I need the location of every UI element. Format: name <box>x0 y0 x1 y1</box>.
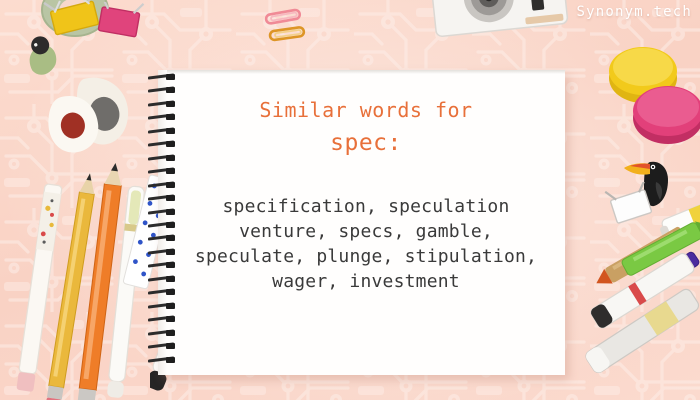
spiral-ring <box>146 276 180 283</box>
spiral-ring <box>146 195 180 202</box>
spiral-ring <box>146 343 180 350</box>
synonym-list: specification, speculation venture, spec… <box>167 194 565 294</box>
spiral-ring <box>146 155 180 162</box>
camera <box>428 0 574 50</box>
spiral-ring <box>146 87 180 94</box>
spiral-ring <box>146 209 180 216</box>
spiral-ring <box>146 289 180 296</box>
screenshot-canvas: Similar words for spec: specification, s… <box>0 0 700 400</box>
spiral-binding <box>146 72 182 374</box>
spiral-ring <box>146 330 180 337</box>
spiral-ring <box>146 74 180 81</box>
spiral-ring <box>146 262 180 269</box>
spiral-ring <box>146 303 180 310</box>
synonym-line: venture, specs, gamble, <box>167 219 565 244</box>
spiral-ring <box>146 141 180 148</box>
spiral-ring <box>146 357 180 364</box>
spiral-ring <box>146 222 180 229</box>
notepad-content: Similar words for spec: specification, s… <box>167 70 565 294</box>
spiral-ring <box>146 182 180 189</box>
synonym-line: wager, investment <box>167 269 565 294</box>
synonym-line: specification, speculation <box>167 194 565 219</box>
synonym-line: speculate, plunge, stipulation, <box>167 244 565 269</box>
paper-clip-orange <box>268 25 308 43</box>
marker-silver <box>576 268 700 390</box>
spiral-ring <box>146 168 180 175</box>
page-title: Similar words for <box>167 98 565 122</box>
avocado-eraser <box>42 70 142 156</box>
query-word: spec: <box>167 130 565 156</box>
spiral-ring <box>146 316 180 323</box>
spiral-ring <box>146 128 180 135</box>
site-watermark: Synonym.tech <box>576 4 692 20</box>
macaron-pink <box>628 80 700 146</box>
spiral-ring <box>146 114 180 121</box>
spiral-ring <box>146 235 180 242</box>
binder-clip-pink <box>92 2 148 42</box>
paper-clip-pink <box>264 8 304 26</box>
spiral-ring <box>146 249 180 256</box>
spiral-ring <box>146 101 180 108</box>
notepad: Similar words for spec: specification, s… <box>158 70 565 375</box>
